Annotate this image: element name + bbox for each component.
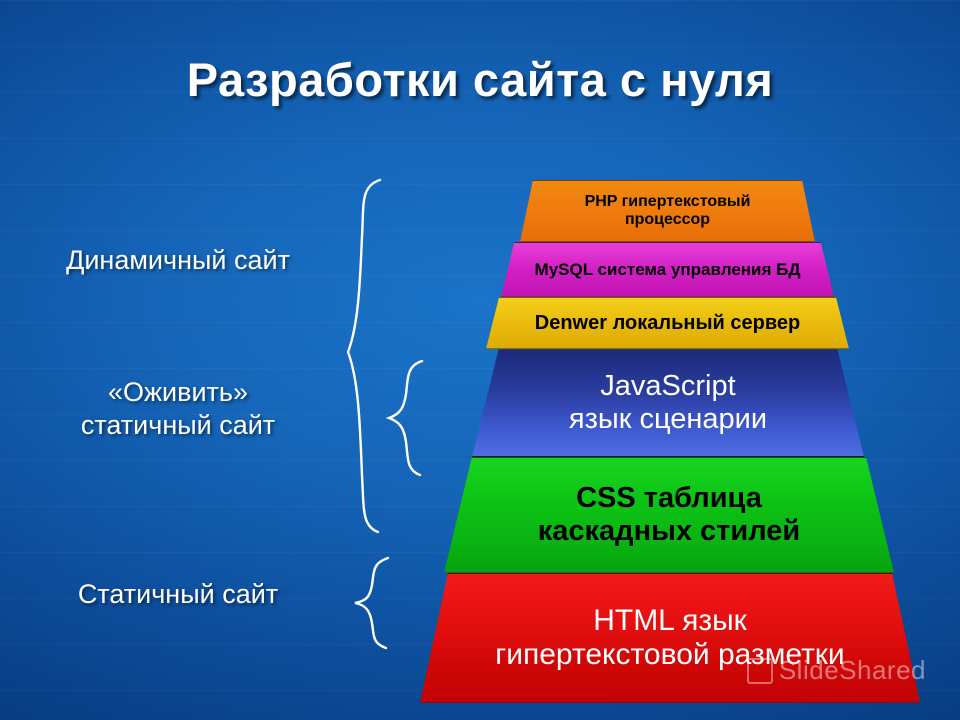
pyramid-layer-html-line2: гипертекстовой разметки	[495, 638, 844, 672]
pyramid-layer-denwer-text: Denwer локальный сервер	[529, 312, 806, 335]
pyramid-layer-html-line1: HTML язык	[495, 604, 844, 638]
label-revive-line2: статичный сайт	[18, 409, 338, 442]
pyramid-layer-php: PHP гипертекстовый процессор	[520, 180, 815, 242]
pyramid-layer-html-text: HTML язык гипертекстовой разметки	[489, 604, 850, 672]
label-revive-static-site: «Оживить» статичный сайт	[18, 376, 338, 442]
brace-static	[348, 555, 394, 651]
brace-dynamic	[340, 176, 390, 536]
pyramid-layer-php-line2: процессор	[585, 211, 751, 229]
page-title: Разработки сайта с нуля	[0, 52, 960, 107]
label-revive-line1: «Оживить»	[18, 376, 338, 409]
pyramid-layer-mysql-text: MySQL система управления БД	[529, 260, 807, 279]
pyramid-layer-javascript-line2: язык сценарии	[569, 403, 767, 436]
pyramid-layer-html: HTML язык гипертекстовой разметки	[420, 573, 920, 703]
technology-pyramid: PHP гипертекстовый процессор MySQL систе…	[420, 180, 960, 720]
pyramid-layer-javascript-text: JavaScript язык сценарии	[563, 370, 773, 436]
pyramid-layer-php-text: PHP гипертекстовый процессор	[579, 193, 757, 229]
pyramid-layer-css-line2: каскадных стилей	[538, 515, 800, 548]
label-static-site: Статичный сайт	[18, 578, 338, 611]
slide: Разработки сайта с нуля Динамичный сайт …	[0, 0, 960, 720]
pyramid-layer-css: CSS таблица каскадных стилей	[444, 457, 894, 573]
pyramid-layer-denwer: Denwer локальный сервер	[486, 297, 849, 349]
pyramid-layer-css-line1: CSS таблица	[538, 482, 800, 515]
pyramid-layer-javascript: JavaScript язык сценарии	[472, 349, 864, 457]
pyramid-layer-css-text: CSS таблица каскадных стилей	[532, 482, 806, 548]
pyramid-layer-mysql: MySQL система управления БД	[501, 242, 834, 297]
pyramid-layer-javascript-line1: JavaScript	[569, 370, 767, 403]
pyramid-layer-php-line1: PHP гипертекстовый	[585, 193, 751, 211]
label-dynamic-site: Динамичный сайт	[18, 244, 338, 277]
